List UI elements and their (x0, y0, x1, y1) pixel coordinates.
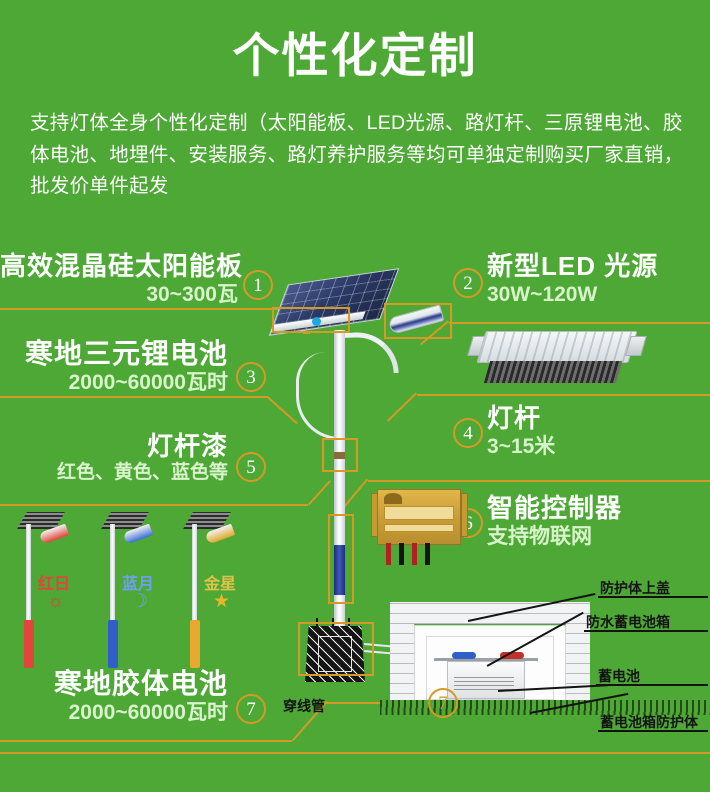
divider-diag-3 (267, 396, 298, 424)
feature-title-2: 新型LED 光源 (487, 252, 658, 282)
divider-line-7b (326, 702, 388, 704)
infographic-page: 个性化定制 支持灯体全身个性化定制（太阳能板、LED光源、路灯杆、三原锂电池、胶… (0, 0, 710, 792)
conduit-label: 穿线管 (283, 696, 325, 716)
divider-line-6 (368, 480, 710, 482)
battery-label (454, 676, 514, 690)
feature-label-2: 新型LED 光源 30W~120W (487, 252, 658, 307)
feature-label-4: 灯杆 3~15米 (487, 404, 555, 459)
feature-badge-2: 2 (453, 268, 483, 298)
feature-spec-6: 支持物联网 (487, 524, 622, 549)
feature-spec-2: 30W~120W (487, 282, 658, 307)
divider-diag-5 (308, 480, 331, 505)
feature-spec-3: 2000~60000瓦时 (0, 370, 228, 395)
divider-line-3 (0, 396, 268, 398)
divider-line-5 (0, 504, 308, 506)
feature-label-7: 寒地胶体电池 2000~60000瓦时 (0, 668, 228, 725)
callout-label-1: 防护体上盖 (600, 578, 670, 598)
feature-badge-7-inline: 7 (428, 688, 458, 718)
callout-line-3b (596, 684, 708, 686)
controller-wire-3 (412, 543, 417, 565)
callout-label-3: 蓄电池 (598, 666, 640, 686)
callout-line-4b (598, 730, 708, 732)
feature-title-1: 高效混晶硅太阳能板 (0, 252, 238, 282)
highlight-box-solar-panel (272, 307, 350, 333)
sample-pole-foot-2 (108, 620, 118, 668)
battery-terminal-negative (452, 652, 476, 659)
feature-title-4: 灯杆 (487, 404, 555, 434)
controller-info-panel (384, 506, 454, 520)
divider-line-7 (0, 740, 292, 742)
callout-label-2: 防水蓄电池箱 (586, 612, 670, 632)
callout-line-1b (598, 596, 708, 598)
divider-line-1 (0, 308, 278, 310)
feature-title-5: 灯杆漆 (0, 432, 228, 462)
divider-line-2 (449, 322, 710, 324)
feature-title-7: 寒地胶体电池 (0, 668, 228, 700)
controller-model-panel (384, 524, 454, 532)
sample-icon-gold-star: ★ (213, 592, 230, 611)
battery-box-wall-left (390, 602, 414, 714)
page-subtitle: 支持灯体全身个性化定制（太阳能板、LED光源、路灯杆、三原锂电池、胶体电池、地埋… (30, 108, 685, 203)
sample-pole-1 (26, 524, 31, 634)
feature-label-1: 高效混晶硅太阳能板 30~300瓦 (0, 252, 238, 307)
feature-spec-4: 3~15米 (487, 434, 555, 459)
divider-line-8 (0, 752, 710, 754)
feature-badge-7: 7 (236, 694, 266, 724)
sample-pole-foot-3 (190, 620, 200, 668)
sample-pole-foot-1 (24, 620, 34, 668)
callout-label-4: 蓄电池箱防护体 (600, 712, 698, 732)
page-title: 个性化定制 (0, 30, 710, 82)
feature-spec-1: 30~300瓦 (0, 282, 238, 307)
feature-badge-5: 5 (236, 452, 266, 482)
callout-line-2b (584, 630, 708, 632)
controller-wire-2 (399, 543, 404, 565)
divider-diag-6 (343, 479, 368, 508)
feature-badge-3: 3 (236, 362, 266, 392)
feature-badge-4: 4 (453, 418, 483, 448)
controller-wire-1 (386, 543, 391, 565)
highlight-box-controller (328, 514, 354, 604)
controller-mount-right (461, 493, 468, 537)
led-module-body (476, 331, 637, 363)
feature-spec-7: 2000~60000瓦时 (0, 700, 228, 725)
feature-label-5: 灯杆漆 红色、黄色、蓝色等 (0, 432, 228, 485)
feature-label-3: 寒地三元锂电池 2000~60000瓦时 (0, 338, 228, 395)
controller-wire-4 (425, 543, 430, 565)
feature-title-6: 智能控制器 (487, 494, 622, 524)
divider-line-4 (417, 394, 710, 396)
led-heatsink-fins (484, 361, 622, 383)
highlight-box-lamp-head (384, 303, 452, 339)
highlight-box-foundation (298, 622, 374, 676)
feature-title-3: 寒地三元锂电池 (0, 338, 228, 370)
divider-diag-4 (387, 393, 417, 422)
light-pole (334, 330, 345, 660)
sample-icon-blue-moon: ☽ (131, 592, 148, 611)
feature-spec-5: 红色、黄色、蓝色等 (0, 462, 228, 485)
feature-label-6: 智能控制器 支持物联网 (487, 494, 622, 549)
sample-icon-red-sun: ☼ (47, 592, 64, 611)
battery-box-wall-top (390, 602, 590, 624)
sample-pole-3 (192, 524, 197, 634)
controller-logo-icon (384, 493, 402, 504)
feature-badge-1: 1 (243, 270, 273, 300)
sample-pole-2 (110, 524, 115, 634)
highlight-box-pole (322, 438, 358, 472)
